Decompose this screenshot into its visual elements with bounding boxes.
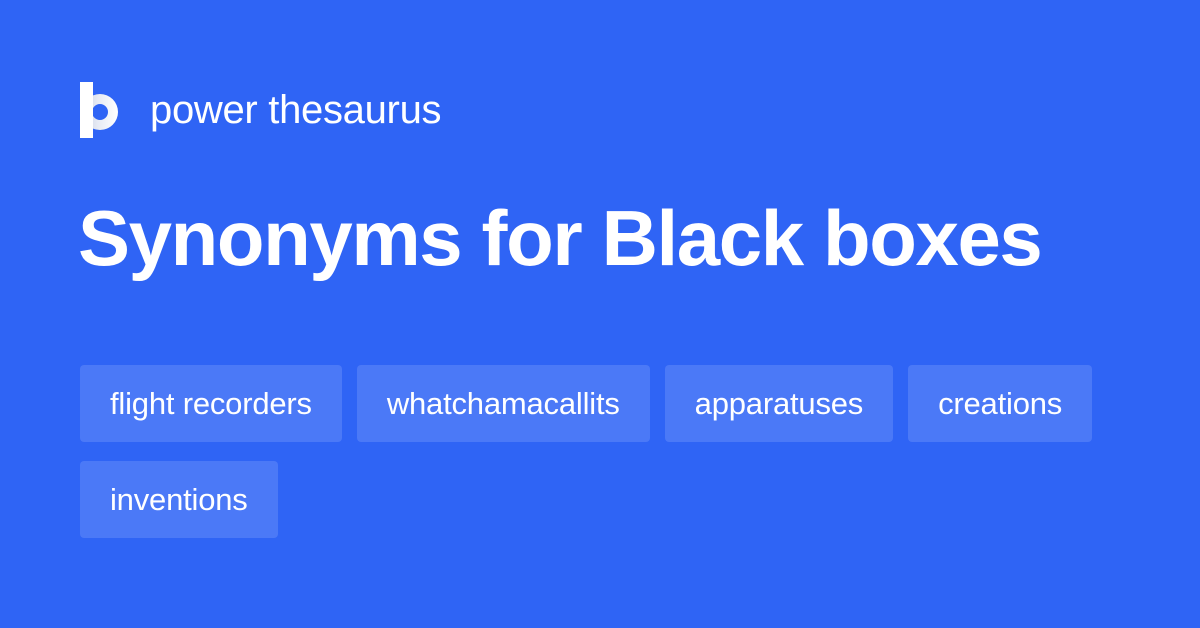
page-title: Synonyms for Black boxes — [78, 196, 1041, 280]
synonym-chip[interactable]: flight recorders — [80, 365, 342, 442]
power-thesaurus-b-logo-icon — [80, 82, 128, 138]
brand-name: power thesaurus — [150, 90, 441, 130]
brand-logo[interactable]: power thesaurus — [80, 82, 441, 138]
synonym-chip[interactable]: apparatuses — [665, 365, 893, 442]
synonym-chip-list: flight recorders whatchamacallits appara… — [80, 365, 1130, 538]
synonym-chip[interactable]: creations — [908, 365, 1092, 442]
synonym-chip[interactable]: inventions — [80, 461, 278, 538]
synonym-chip[interactable]: whatchamacallits — [357, 365, 650, 442]
